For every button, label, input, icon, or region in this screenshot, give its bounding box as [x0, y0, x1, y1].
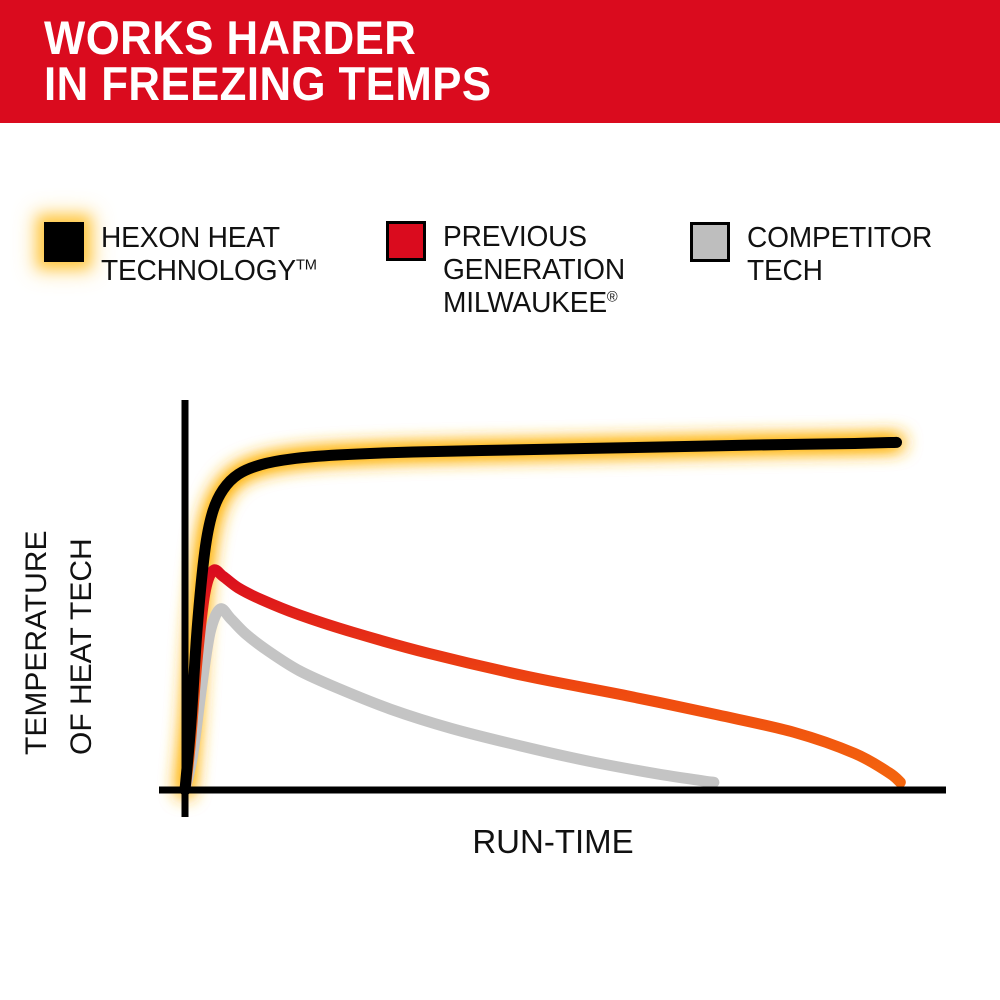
- chart-plot-area: TEMPERATURE OF HEAT TECH RUN-TIME: [0, 330, 1000, 890]
- legend-item-competitor-tech[interactable]: COMPETITOR TECH: [690, 222, 990, 288]
- banner-title: WORKS HARDER IN FREEZING TEMPS: [44, 15, 491, 107]
- legend-item-hexon-heat-technology[interactable]: HEXON HEAT TECHNOLOGYTM: [44, 222, 374, 288]
- y-axis-title: TEMPERATURE OF HEAT TECH: [0, 330, 100, 730]
- legend-label-text: COMPETITOR TECH: [747, 222, 932, 287]
- legend-label-text: PREVIOUS GENERATION MILWAUKEE: [443, 221, 625, 319]
- trademark-symbol: TM: [296, 256, 317, 273]
- legend-label-previous-generation-milwaukee: PREVIOUS GENERATION MILWAUKEE®: [443, 221, 625, 320]
- previous-generation-curve: [185, 570, 900, 790]
- legend-label-competitor-tech: COMPETITOR TECH: [747, 222, 932, 288]
- legend-label-text: HEXON HEAT TECHNOLOGY: [101, 222, 296, 287]
- header-banner: WORKS HARDER IN FREEZING TEMPS: [0, 0, 1000, 123]
- legend-swatch-competitor-tech: [690, 222, 730, 262]
- legend-swatch-hexon-heat-technology: [44, 222, 84, 262]
- legend-item-previous-generation-milwaukee[interactable]: PREVIOUS GENERATION MILWAUKEE®: [386, 221, 676, 320]
- y-axis-title-line-2: OF HEAT TECH: [67, 538, 97, 755]
- x-axis-title: RUN-TIME: [160, 825, 946, 859]
- legend-swatch-previous-generation-milwaukee: [386, 221, 426, 261]
- chart-svg: [0, 330, 1000, 890]
- registered-symbol: ®: [607, 288, 618, 305]
- y-axis-title-line-1: TEMPERATURE: [22, 531, 52, 755]
- legend-label-hexon-heat-technology: HEXON HEAT TECHNOLOGYTM: [101, 222, 317, 288]
- chart-legend: HEXON HEAT TECHNOLOGYTM PREVIOUS GENERAT…: [0, 210, 1000, 330]
